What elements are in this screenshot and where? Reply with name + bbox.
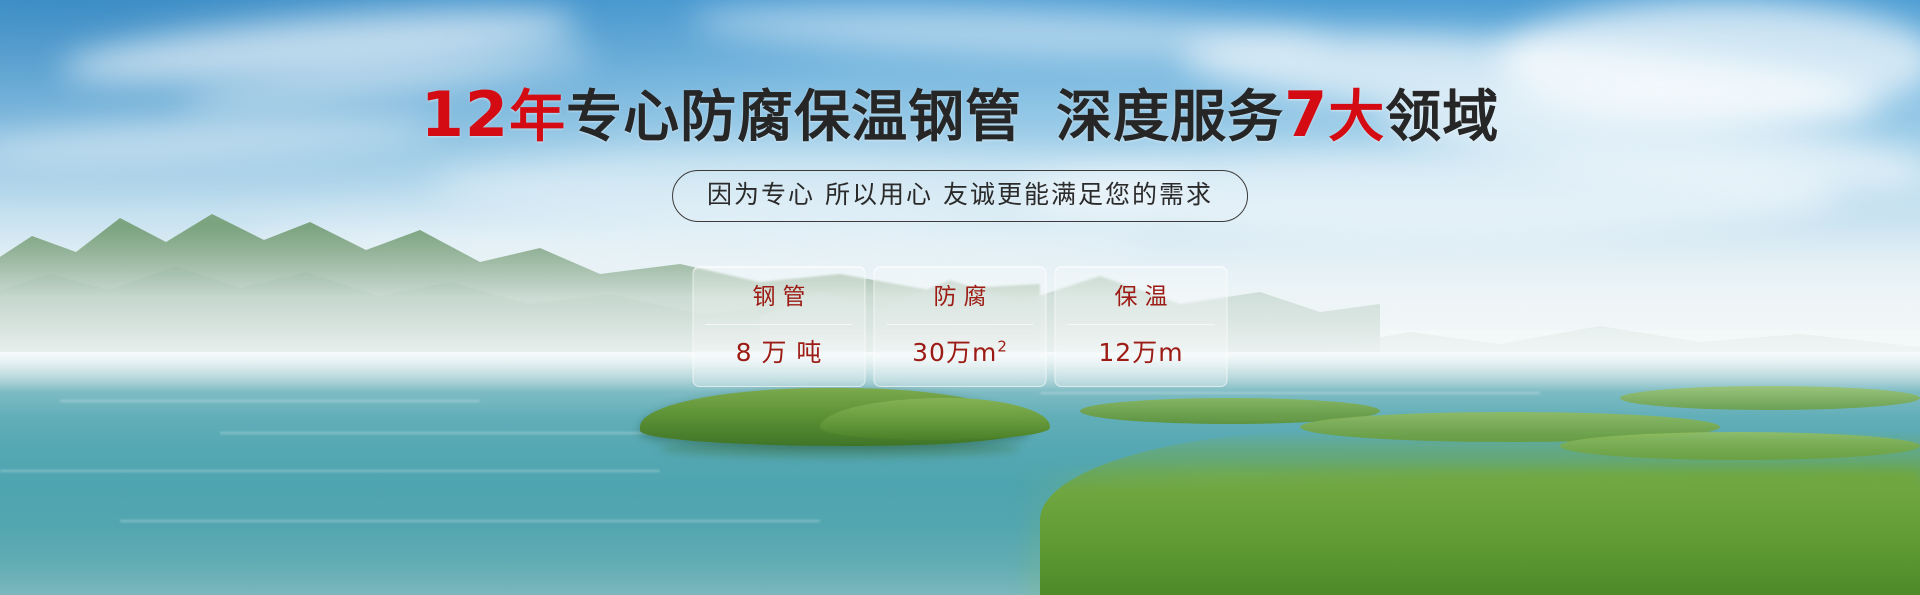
stat-card-value-text: 8 万 吨 xyxy=(736,338,823,367)
headline-years-unit: 年 xyxy=(509,85,566,150)
stat-card-value-text: 12万m xyxy=(1098,338,1183,367)
headline-fields-number: 7 xyxy=(1284,78,1328,151)
stat-card-value-superscript: 2 xyxy=(997,338,1008,356)
stat-card-label: 钢管 xyxy=(706,283,853,325)
stat-card-value-text: 30万m xyxy=(912,338,997,367)
headline-main-text: 专心防腐保温钢管 xyxy=(566,85,1022,150)
headline-service-text: 深度服务 xyxy=(1056,85,1284,150)
stat-card-value: 30万m2 xyxy=(887,338,1034,368)
promo-banner: 12年专心防腐保温钢管深度服务7大领域 因为专心 所以用心 友诚更能满足您的需求… xyxy=(0,0,1920,595)
stat-card-label: 防腐 xyxy=(887,283,1034,325)
subtitle-pill: 因为专心 所以用心 友诚更能满足您的需求 xyxy=(672,170,1248,222)
headline-fields-unit: 大 xyxy=(1328,85,1385,150)
stat-card-group: 钢管 8 万 吨 防腐 30万m2 保温 12万m xyxy=(693,266,1228,387)
stat-card-anticorrosion[interactable]: 防腐 30万m2 xyxy=(874,266,1047,387)
stat-card-label: 保温 xyxy=(1068,283,1215,325)
banner-content: 12年专心防腐保温钢管深度服务7大领域 因为专心 所以用心 友诚更能满足您的需求… xyxy=(0,0,1920,595)
headline-fields-text: 领域 xyxy=(1385,85,1499,150)
stat-card-value: 8 万 吨 xyxy=(706,338,853,368)
headline: 12年专心防腐保温钢管深度服务7大领域 xyxy=(0,84,1920,149)
stat-card-insulation[interactable]: 保温 12万m xyxy=(1055,266,1228,387)
stat-card-value: 12万m xyxy=(1068,338,1215,368)
stat-card-steel-pipe[interactable]: 钢管 8 万 吨 xyxy=(693,266,866,387)
headline-years-number: 12 xyxy=(421,78,509,151)
